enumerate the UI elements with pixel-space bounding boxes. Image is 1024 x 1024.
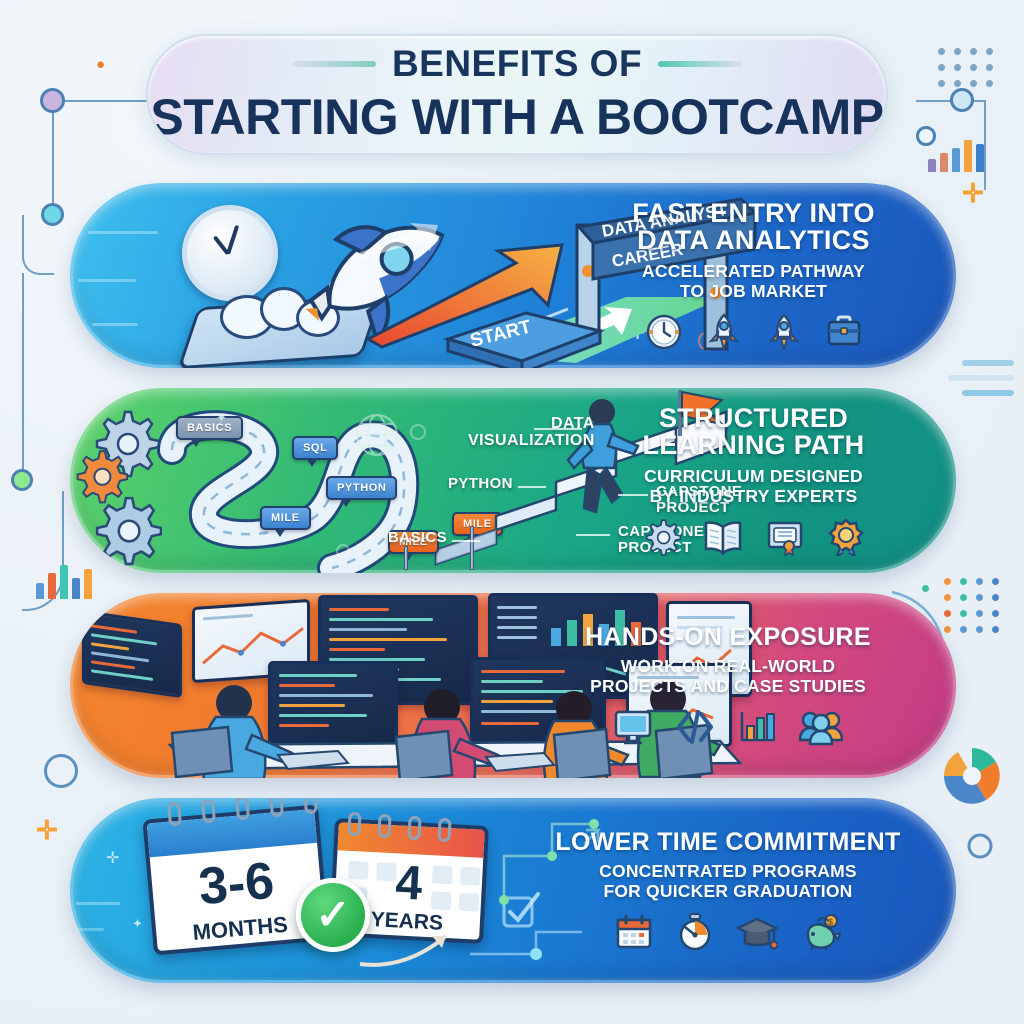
circuit-trace-right-2	[984, 100, 986, 190]
circuit-trace-left-5	[22, 491, 64, 611]
stripe-decor-2	[948, 375, 1014, 381]
circuit-line	[70, 928, 104, 931]
callout-dataviz: DATA VISUALIZATION	[468, 416, 595, 450]
clock-illustration	[182, 205, 278, 301]
panel-fast-entry[interactable]: ✦ ✦ ✛	[70, 183, 956, 368]
circuit-node-right-1	[950, 88, 974, 112]
signpost-mile-2	[470, 526, 474, 570]
lead-line-basics	[452, 540, 480, 542]
speed-line	[88, 231, 158, 234]
panel2-title-line2: LEARNING PATH	[643, 432, 865, 460]
callout-python-text: PYTHON	[448, 476, 513, 492]
circuit-node-left-3	[11, 469, 33, 491]
panel-lower-time[interactable]: ✛ ✦ ✛ 3-6 MONTHS	[70, 798, 956, 983]
calendar-spiral	[167, 801, 182, 826]
circuit-line	[76, 902, 120, 905]
plus-decor-left-top: ●	[96, 56, 105, 73]
bar-chart-icon	[737, 708, 777, 746]
lead-line-dataviz	[534, 428, 582, 430]
circuit-node-left-2	[41, 203, 64, 226]
calendar-icon	[614, 913, 654, 951]
panel2-text-block: STRUCTURED LEARNING PATH CURRICULUM DESI…	[581, 388, 926, 573]
keyboard-illustration	[274, 749, 354, 771]
clock-icon	[645, 313, 683, 351]
panel2-sub-line1: CURRICULUM DESIGNED	[644, 467, 863, 487]
graduation-cap-icon	[736, 913, 778, 951]
certificate-icon	[765, 518, 805, 556]
sparkle-decor: ✦	[132, 916, 143, 932]
briefcase-icon	[825, 313, 863, 351]
callout-dataviz-line2: VISUALIZATION	[468, 432, 595, 449]
speed-line	[78, 279, 136, 282]
book-icon	[703, 518, 743, 556]
road-marker-mile-1: MILE	[260, 506, 311, 530]
title-dash-right	[658, 61, 742, 67]
globe-decor	[352, 410, 402, 460]
panel1-text-block: FAST ENTRY INTO DATA ANALYTICS ACCELERAT…	[581, 183, 926, 368]
calendar-spiral	[407, 816, 421, 841]
panel-hands-on[interactable]: HANDS-ON EXPOSURE WORK ON REAL-WORLD PRO…	[70, 593, 956, 778]
rocket-icon	[765, 313, 803, 351]
check-mark-glyph: ✓	[315, 894, 350, 936]
circuit-trace-right-1	[916, 100, 986, 102]
panel1-icon-row	[645, 313, 863, 351]
rocket-icon	[705, 313, 743, 351]
chair-illustration	[166, 721, 256, 778]
panel2-title-line1: STRUCTURED	[659, 405, 848, 433]
lead-line-python	[518, 486, 546, 488]
white-arrow-small	[352, 221, 442, 261]
panel4-sub-line2: FOR QUICKER GRADUATION	[603, 882, 852, 902]
calendar-spiral	[269, 798, 284, 818]
calendar-spiral	[437, 818, 451, 843]
circuit-trace-left-4	[22, 273, 24, 483]
sparkle-decor: ✛	[106, 848, 119, 868]
calendar-spiral	[377, 814, 391, 839]
circuit-trace-left-3	[22, 215, 54, 275]
panel2-sub-line2: BY INDUSTRY EXPERTS	[650, 487, 858, 507]
panel3-sub-line1: WORK ON REAL-WORLD	[621, 657, 836, 677]
page-title-line1: BENEFITS OF	[392, 43, 642, 85]
panel3-sub-line2: PROJECTS AND CASE STUDIES	[590, 677, 866, 697]
calendar-spiral	[235, 798, 250, 821]
infographic-canvas: ✛ ● ✛	[0, 0, 1024, 1024]
sparkle-decor: ✦	[216, 410, 227, 426]
circuit-node-right-2	[916, 126, 936, 146]
dot-grid-left-mid	[922, 585, 929, 592]
award-ribbon-icon	[827, 518, 865, 556]
calendar-spiral	[347, 812, 361, 837]
panel3-icon-row	[613, 708, 843, 746]
dot-grid-top-right	[938, 48, 993, 87]
ring-decor	[410, 424, 426, 440]
panel3-text-block: HANDS-ON EXPOSURE WORK ON REAL-WORLD PRO…	[518, 593, 938, 778]
calendar-spiral	[201, 798, 216, 823]
stripe-decor-1	[962, 360, 1014, 366]
code-brackets-icon	[675, 708, 715, 746]
panel4-sub-line1: CONCENTRATED PROGRAMS	[599, 862, 857, 882]
road-marker-basics: BASICS	[176, 416, 243, 440]
title-dash-left	[292, 61, 376, 67]
circuit-trace-left-2	[52, 100, 54, 215]
road-marker-sql: SQL	[292, 436, 338, 460]
panel2-icon-row	[643, 518, 865, 556]
piggy-bank-icon: $	[800, 913, 842, 951]
panel1-title-line1: FAST ENTRY INTO	[632, 200, 875, 228]
panel1-sub-line2: TO JOB MARKET	[680, 282, 827, 302]
people-group-icon	[799, 708, 843, 746]
panel-structured-path[interactable]: BASICS SQL PYTHON MILE MILE ✦	[70, 388, 956, 573]
stripe-decor-3	[962, 390, 1014, 396]
mini-bar-chart-right	[928, 140, 984, 172]
road-marker-python: PYTHON	[326, 476, 397, 500]
panel3-title-line1: HANDS-ON EXPOSURE	[585, 625, 871, 651]
panel1-sub-line1: ACCELERATED PATHWAY	[642, 262, 865, 282]
panel4-text-block: LOWER TIME COMMITMENT CONCENTRATED PROGR…	[518, 798, 938, 983]
callout-basics-text: BASICS	[388, 530, 447, 546]
gear-icon	[643, 518, 681, 556]
plus-decor-right-top: ✛	[962, 178, 984, 209]
speed-line	[92, 323, 138, 326]
monitor-icon	[613, 708, 653, 746]
page-title-line2: STARTING WITH A BOOTCAMP	[150, 88, 883, 146]
ring-decor	[336, 544, 350, 558]
title-banner: BENEFITS OF STARTING WITH A BOOTCAMP	[146, 34, 888, 155]
chair-illustration	[390, 727, 476, 778]
stopwatch-icon	[676, 913, 714, 951]
svg-text:$: $	[828, 917, 833, 927]
title-row-top: BENEFITS OF	[292, 43, 742, 85]
panel1-title-line2: DATA ANALYTICS	[637, 227, 870, 255]
plus-decor-left-bottom: ✛	[36, 815, 58, 846]
signpost-mile-3	[404, 546, 408, 570]
panel4-title-line1: LOWER TIME COMMITMENT	[555, 830, 900, 856]
circuit-node-left-1	[40, 88, 65, 113]
panel4-icon-row: $	[614, 913, 842, 951]
wall-monitor-code	[82, 610, 182, 698]
